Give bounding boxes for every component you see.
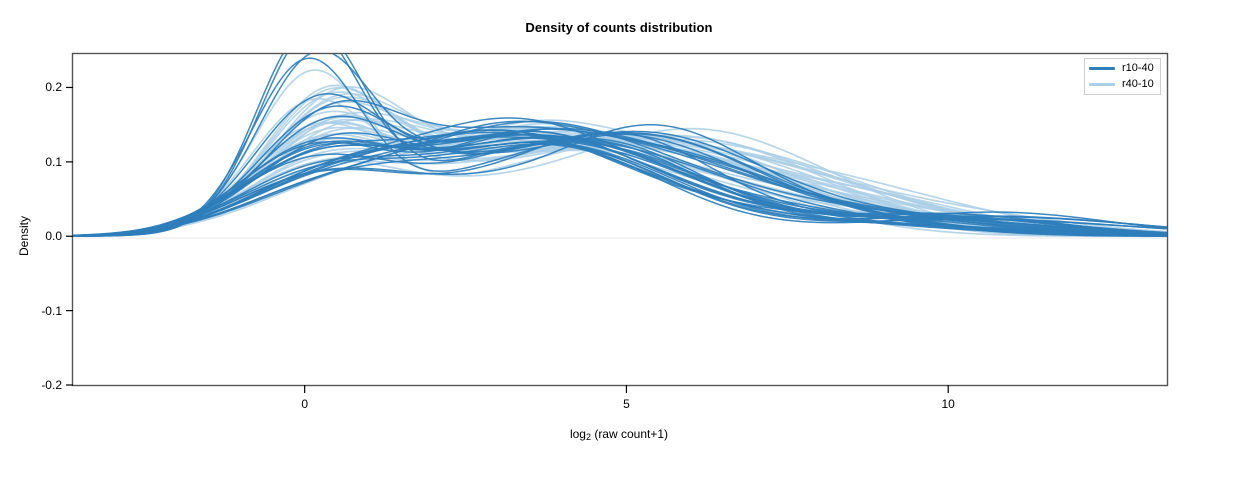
y-tick-label: -0.1 [18, 304, 62, 318]
y-tick-label: 0.2 [18, 80, 62, 94]
x-axis-title-base: log [570, 427, 586, 441]
legend-label-r40-10: r40-10 [1122, 79, 1154, 90]
x-tick-label: 0 [301, 397, 308, 411]
x-axis-title: log2 (raw count+1) [0, 427, 1238, 442]
legend: r10-40 r40-10 [1084, 58, 1161, 95]
x-tick-label: 10 [942, 397, 955, 411]
legend-item-r10-40[interactable]: r10-40 [1089, 62, 1154, 75]
legend-swatch-r10-40 [1089, 67, 1115, 70]
y-tick-label: -0.2 [18, 378, 62, 392]
y-tick-label: 0.1 [18, 155, 62, 169]
y-axis-title: Density [17, 216, 31, 256]
x-axis-title-rest: (raw count+1) [591, 427, 668, 441]
x-axis-ticks [305, 385, 949, 393]
density-plot-figure: Density of counts distribution -0.2-0.10… [0, 0, 1238, 500]
plot-canvas [0, 0, 1238, 500]
legend-label-r10-40: r10-40 [1122, 63, 1154, 74]
x-tick-label: 5 [623, 397, 630, 411]
legend-item-r40-10[interactable]: r40-10 [1089, 78, 1154, 91]
legend-swatch-r40-10 [1089, 83, 1115, 86]
